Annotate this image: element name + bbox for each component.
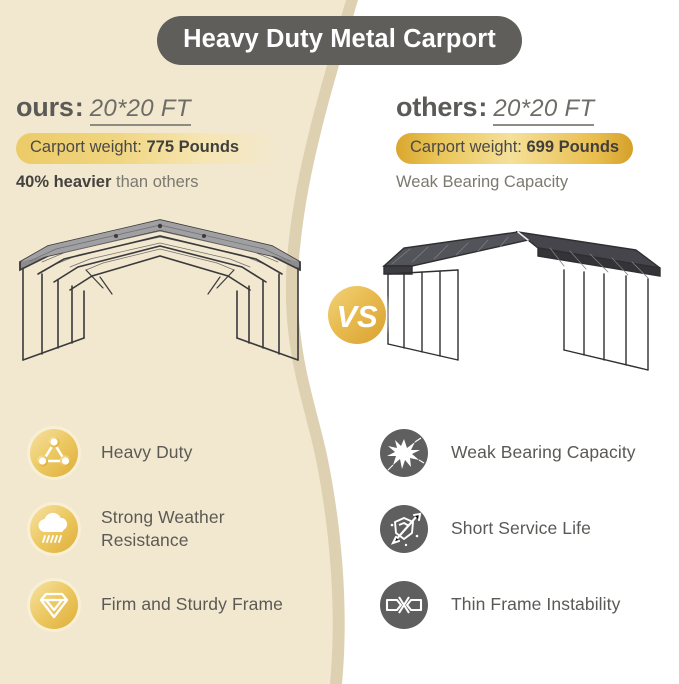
feature-label: Heavy Duty [101, 441, 192, 464]
ours-subtext-rest: than others [111, 173, 198, 191]
page-title: Heavy Duty Metal Carport [157, 16, 522, 65]
ours-colon: : [75, 92, 84, 123]
ours-size: 20*20 FT [90, 95, 191, 126]
others-colon: : [478, 92, 487, 123]
title-bar: Heavy Duty Metal Carport [0, 16, 679, 65]
others-weight-prefix: Carport weight: [410, 138, 526, 156]
others-header: others : 20*20 FT Carport weight: 699 Po… [396, 92, 671, 192]
ours-carport-illustration [8, 212, 313, 377]
feature-row: Firm and Sturdy Frame [26, 567, 346, 643]
feature-label: Weak Bearing Capacity [451, 441, 636, 464]
vs-badge: VS [320, 278, 394, 352]
diamond-frame-icon [26, 577, 82, 633]
others-size: 20*20 FT [493, 95, 594, 126]
infographic-page: Heavy Duty Metal Carport ours : 20*20 FT… [0, 0, 679, 684]
feature-label: Strong WeatherResistance [101, 506, 225, 553]
ours-title-line: ours : 20*20 FT [16, 92, 336, 126]
rain-cloud-icon [26, 501, 82, 557]
feature-label: Short Service Life [451, 517, 591, 540]
others-title-line: others : 20*20 FT [396, 92, 671, 126]
feature-row: Short Service Life [376, 491, 676, 567]
ours-subtext: 40% heavier than others [16, 173, 336, 192]
feature-row: Heavy Duty [26, 415, 346, 491]
cracked-burst-icon [376, 425, 432, 481]
others-weight-badge: Carport weight: 699 Pounds [396, 133, 633, 164]
feature-label: Firm and Sturdy Frame [101, 593, 283, 616]
bent-beam-icon [376, 577, 432, 633]
feature-label: Thin Frame Instability [451, 593, 620, 616]
others-subtext-rest: Weak Bearing Capacity [396, 173, 568, 191]
feature-row: Strong WeatherResistance [26, 491, 346, 567]
ours-weight-badge: Carport weight: 775 Pounds [16, 133, 279, 164]
ours-subtext-strong: 40% heavier [16, 173, 111, 191]
feature-row: Thin Frame Instability [376, 567, 676, 643]
ours-weight-prefix: Carport weight: [30, 138, 146, 156]
ours-header: ours : 20*20 FT Carport weight: 775 Poun… [16, 92, 336, 192]
others-feature-list: Weak Bearing Capacity [376, 415, 676, 643]
others-carport-illustration [368, 222, 668, 380]
broken-shield-arrow-icon [376, 501, 432, 557]
ours-weight-value: 775 Pounds [146, 138, 239, 156]
others-label: others [396, 92, 477, 123]
heavy-duty-icon [26, 425, 82, 481]
others-subtext: Weak Bearing Capacity [396, 173, 671, 192]
ours-feature-list: Heavy Duty Strong WeatherResistance [26, 415, 346, 643]
feature-row: Weak Bearing Capacity [376, 415, 676, 491]
vs-label: VS [336, 299, 378, 334]
others-weight-value: 699 Pounds [526, 138, 619, 156]
ours-label: ours [16, 92, 74, 123]
